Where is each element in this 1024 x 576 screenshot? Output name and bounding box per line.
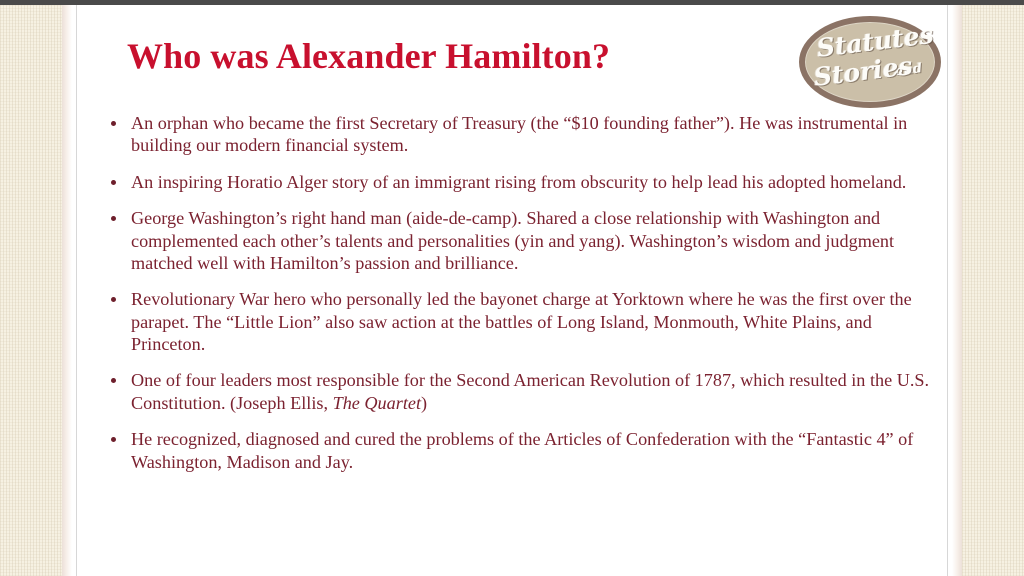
bullet-text: One of four leaders most responsible for…	[131, 369, 945, 414]
bullet-text: He recognized, diagnosed and cured the p…	[131, 428, 945, 473]
bullet-dot-icon	[111, 297, 116, 302]
statutes-and-stories-logo: Statutes and Stories	[799, 16, 941, 108]
bullet-list: An orphan who became the first Secretary…	[93, 112, 945, 473]
left-decorative-band	[0, 0, 62, 576]
right-divider-rule	[947, 0, 948, 576]
right-band-edge	[952, 0, 962, 576]
slide-canvas: Who was Alexander Hamilton? Statutes and…	[0, 0, 1024, 576]
top-edge-band	[0, 0, 1024, 5]
bullet-revolutionary-war-hero: Revolutionary War hero who personally le…	[93, 288, 945, 355]
bullet-dot-icon	[111, 378, 116, 383]
bullet-text: Revolutionary War hero who personally le…	[131, 288, 945, 355]
bullet-text: George Washington’s right hand man (aide…	[131, 207, 945, 274]
bullet-washington-right-hand-man: George Washington’s right hand man (aide…	[93, 207, 945, 274]
bullet-second-american-revolution: One of four leaders most responsible for…	[93, 369, 945, 414]
right-decorative-band	[962, 0, 1024, 576]
slide-page: Who was Alexander Hamilton? Statutes and…	[77, 0, 947, 576]
logo-inner: Statutes and Stories	[805, 22, 935, 102]
bullet-articles-of-confederation: He recognized, diagnosed and cured the p…	[93, 428, 945, 473]
bullet-dot-icon	[111, 437, 116, 442]
left-band-edge	[62, 0, 72, 576]
bullet-dot-icon	[111, 216, 116, 221]
bullet-text: An inspiring Horatio Alger story of an i…	[131, 171, 945, 193]
bullet-dot-icon	[111, 121, 116, 126]
bullet-orphan-secretary-of-treasury: An orphan who became the first Secretary…	[93, 112, 945, 157]
bullet-dot-icon	[111, 180, 116, 185]
page-title: Who was Alexander Hamilton?	[127, 36, 610, 77]
bullet-horatio-alger-story: An inspiring Horatio Alger story of an i…	[93, 171, 945, 193]
bullet-text: An orphan who became the first Secretary…	[131, 112, 945, 157]
